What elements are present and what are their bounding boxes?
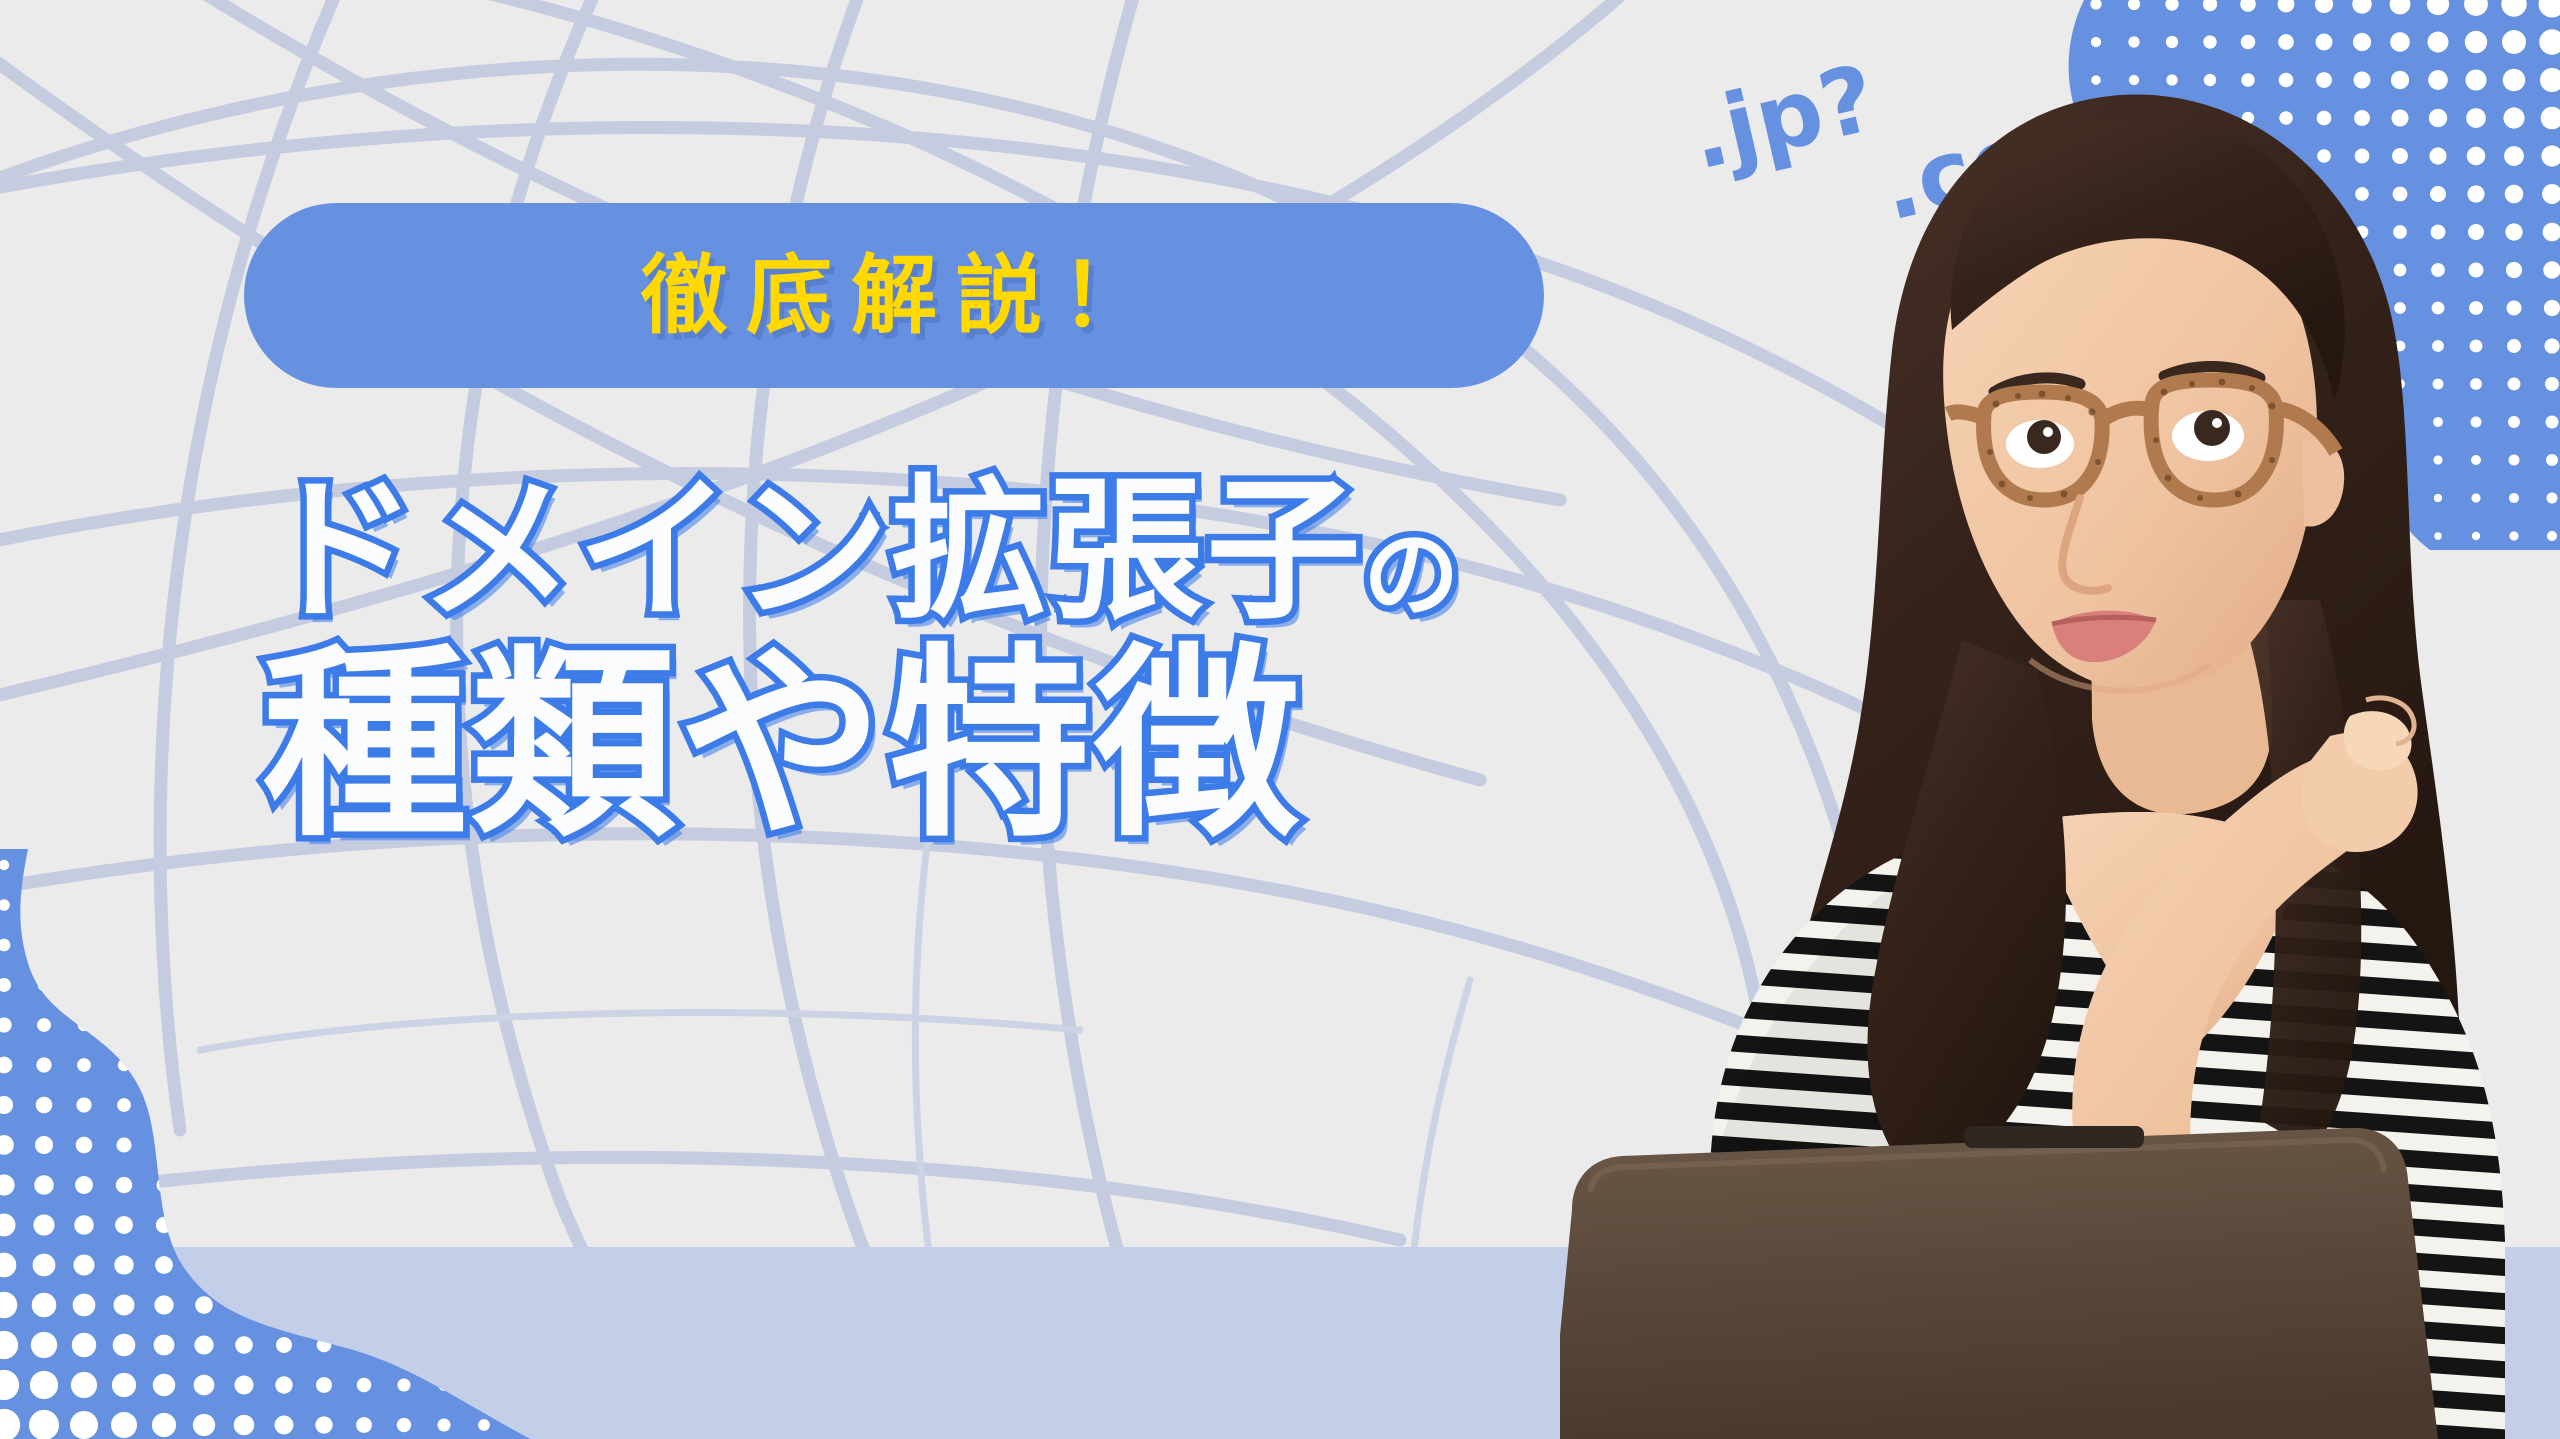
eyebrow-badge: 徹底解説！: [244, 203, 1544, 388]
eyebrow-badge-label: 徹底解説！: [622, 253, 1166, 339]
headline-line-1: ドメイン拡張子の: [262, 470, 1662, 633]
corner-decoration-top-right: [1930, 0, 2560, 550]
thumbnail-canvas: .jp? .com?: [0, 0, 2560, 1439]
headline-line-1-main: ドメイン拡張子: [262, 460, 1363, 641]
headline-line-1-suffix: の: [1363, 519, 1461, 631]
headline-line-2: 種類や特徴: [262, 639, 1662, 854]
page-title: ドメイン拡張子の 種類や特徴: [262, 470, 1662, 854]
corner-decoration-bottom-left: [0, 849, 550, 1439]
